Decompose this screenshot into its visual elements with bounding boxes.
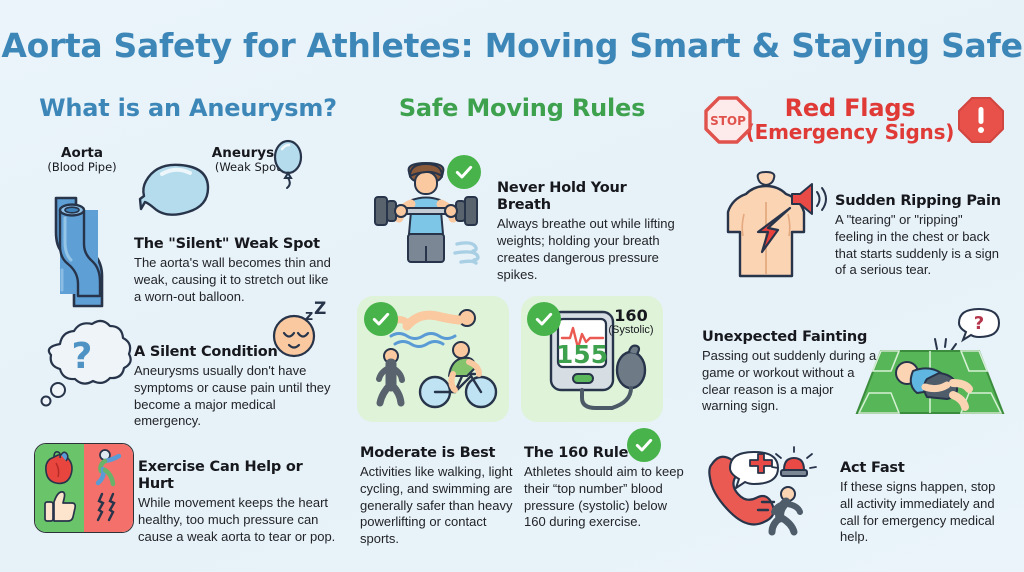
- block-the-160-rule-title: The 160 Rule: [524, 445, 686, 462]
- block-silent-weak-spot-title: The "Silent" Weak Spot: [134, 236, 334, 253]
- block-silent-condition-title: A Silent Condition: [134, 344, 334, 361]
- check-icon: [634, 435, 654, 455]
- block-never-hold-your-breath-body: Always breathe out while lifting weights…: [497, 216, 685, 283]
- emergency-call-icon: [702, 448, 830, 536]
- check-badge-160-rule-card: [527, 302, 561, 336]
- normal-balloon-icon: [271, 138, 305, 190]
- check-badge-never-hold-breath: [447, 155, 481, 189]
- tear-crack-icon: [95, 492, 123, 522]
- thumbs-up-icon: [43, 490, 77, 520]
- cyclist-icon: [419, 340, 499, 412]
- walking-person-icon: [371, 348, 419, 410]
- block-silent-condition-body: Aneurysms usually don't have symptoms or…: [134, 363, 334, 430]
- alert-octagon-icon: [957, 96, 1005, 144]
- check-badge-moderate-activities: [364, 302, 398, 336]
- block-sudden-ripping-pain-title: Sudden Ripping Pain: [835, 193, 1003, 210]
- svg-text:Z: Z: [314, 299, 326, 319]
- running-person-icon: [93, 449, 125, 489]
- check-icon: [371, 309, 391, 329]
- check-icon: [454, 162, 474, 182]
- block-act-fast-body: If these signs happen, stop all activity…: [840, 479, 1008, 546]
- block-exercise-help-or-hurt-title: Exercise Can Help or Hurt: [138, 459, 338, 493]
- column-what-is-an-aneurysm: What is an Aneurysm?: [22, 96, 354, 121]
- block-moderate-is-best: Moderate is Best Activities like walking…: [360, 445, 518, 548]
- bp-limit-value: 160: [603, 306, 659, 325]
- middle-column-heading: Safe Moving Rules: [356, 96, 688, 121]
- bp-limit-sublabel: (Systolic): [603, 324, 659, 336]
- infographic-canvas: Aorta Safety for Athletes: Moving Smart …: [0, 0, 1024, 572]
- svg-text:z: z: [305, 308, 313, 324]
- block-act-fast-title: Act Fast: [840, 460, 1008, 477]
- right-column-heading-main: Red Flags: [785, 94, 916, 122]
- aorta-label-text: Aorta: [61, 145, 103, 161]
- panel-help-half: [35, 444, 84, 532]
- block-moderate-is-best-title: Moderate is Best: [360, 445, 518, 462]
- thought-bubble-question-icon: ?: [34, 322, 130, 408]
- block-silent-condition: A Silent Condition Aneurysms usually don…: [134, 344, 334, 430]
- block-never-hold-your-breath: Never Hold Your Breath Always breathe ou…: [497, 180, 685, 283]
- fainting-on-field-icon: ?: [855, 305, 1005, 423]
- block-silent-weak-spot-body: The aorta's wall becomes thin and weak, …: [134, 255, 334, 305]
- anatomical-heart-icon: [42, 450, 78, 484]
- aorta-label: Aorta (Blood Pipe): [34, 146, 130, 173]
- aorta-pipe-icon: [48, 184, 122, 300]
- check-icon: [534, 309, 554, 329]
- left-column-heading: What is an Aneurysm?: [22, 96, 354, 121]
- block-act-fast: Act Fast If these signs happen, stop all…: [840, 460, 1008, 546]
- column-safe-moving-rules: Safe Moving Rules: [356, 96, 688, 121]
- check-badge-160-rule-text: [627, 428, 661, 462]
- back-pain-lightning-icon: [706, 170, 824, 286]
- block-moderate-is-best-body: Activities like walking, light cycling, …: [360, 464, 518, 548]
- panel-hurt-half: [84, 444, 133, 532]
- block-sudden-ripping-pain-body: A "tearing" or "ripping" feeling in the …: [835, 212, 1003, 279]
- heart-vs-tear-panel-icon: [34, 443, 134, 533]
- svg-text:?: ?: [974, 313, 984, 334]
- block-the-160-rule-body: Athletes should aim to keep their “top n…: [524, 464, 686, 531]
- block-the-160-rule: The 160 Rule Athletes should aim to keep…: [524, 445, 686, 531]
- block-silent-weak-spot: The "Silent" Weak Spot The aorta's wall …: [134, 236, 334, 305]
- block-exercise-help-or-hurt: Exercise Can Help or Hurt While movement…: [138, 459, 338, 546]
- overinflated-balloon-icon: [140, 158, 212, 222]
- bp-reading-text: 155: [556, 340, 608, 369]
- block-sudden-ripping-pain: Sudden Ripping Pain A "tearing" or "ripp…: [835, 193, 1003, 279]
- svg-text:?: ?: [72, 336, 93, 377]
- page-title: Aorta Safety for Athletes: Moving Smart …: [0, 26, 1024, 65]
- block-never-hold-your-breath-title: Never Hold Your Breath: [497, 180, 685, 214]
- aorta-label-sub: (Blood Pipe): [34, 161, 130, 174]
- stop-sign-text: STOP: [710, 114, 746, 128]
- block-exercise-help-or-hurt-body: While movement keeps the heart healthy, …: [138, 495, 338, 545]
- stop-sign-icon: STOP: [704, 96, 752, 144]
